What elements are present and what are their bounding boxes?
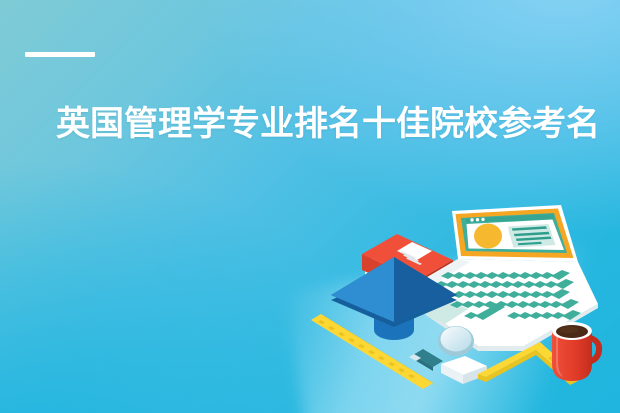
study-desk-illustration	[0, 0, 620, 413]
cover-canvas: 英国管理学专业排名十佳院校参考名	[0, 0, 620, 413]
window-dot	[481, 218, 484, 221]
avatar	[474, 224, 502, 249]
eraser-icon	[441, 356, 487, 384]
window-dot	[476, 218, 479, 221]
coffee-mug-icon	[552, 322, 602, 381]
window-dot	[470, 218, 473, 221]
